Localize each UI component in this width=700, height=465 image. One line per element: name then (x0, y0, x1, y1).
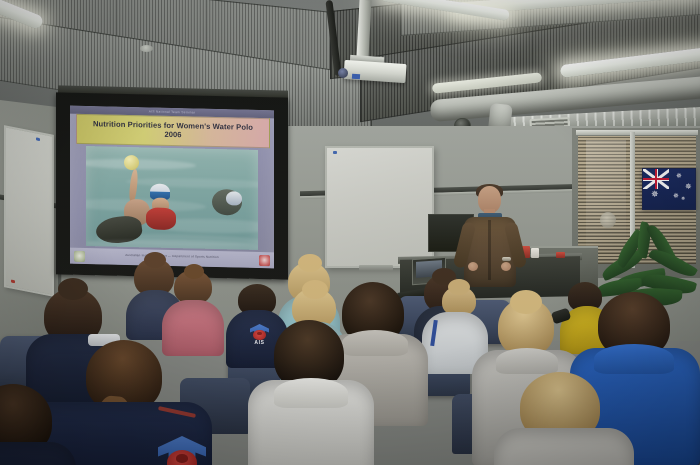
presenter-shirt-placket (488, 220, 491, 280)
sports-commission-logo (74, 250, 85, 261)
water-polo-ball (124, 155, 139, 170)
ais-logo-slide (259, 254, 270, 265)
australian-flag: ✵ ✵ ✵ ✵ ✵ (642, 168, 696, 210)
whiteboard-pen-tray (359, 265, 393, 271)
projector-indicator (352, 74, 360, 80)
blank-whiteboard[interactable] (325, 146, 434, 268)
ais-logo-polo: AIS (250, 324, 269, 343)
presenter-wristwatch (502, 257, 511, 261)
whiteboard-marker-blue (36, 137, 40, 141)
presenter-right-hand (501, 262, 511, 271)
slide-footer-text: Australian Institute of Sport — Departme… (125, 253, 219, 259)
presenter-left-hand (468, 262, 478, 271)
wall-clock (600, 212, 616, 228)
slide-photo-water-polo (86, 146, 258, 250)
hood (274, 378, 348, 408)
table-object-red-2 (556, 252, 565, 258)
whiteboard-marker-red (11, 280, 15, 284)
ais-logo-jacket: AIS (158, 436, 206, 465)
commonwealth-star: ✵ (651, 190, 659, 199)
whiteboard-magnet-blue (333, 151, 337, 154)
slide-title-band: Nutrition Priorities for Women's Water P… (76, 114, 270, 148)
table-object-white (531, 248, 539, 258)
window-frame-top (576, 130, 698, 135)
hood (496, 348, 558, 374)
smoke-detector (140, 45, 153, 52)
lecture-room-photo: AIS National Team Seminar Nutrition Prio… (0, 0, 700, 465)
side-whiteboard[interactable] (4, 125, 54, 297)
slide-content: AIS National Team Seminar Nutrition Prio… (70, 106, 274, 269)
hood (342, 330, 408, 356)
hood (594, 344, 674, 374)
union-jack (643, 169, 669, 189)
ais-logo-text: AIS (250, 341, 269, 346)
